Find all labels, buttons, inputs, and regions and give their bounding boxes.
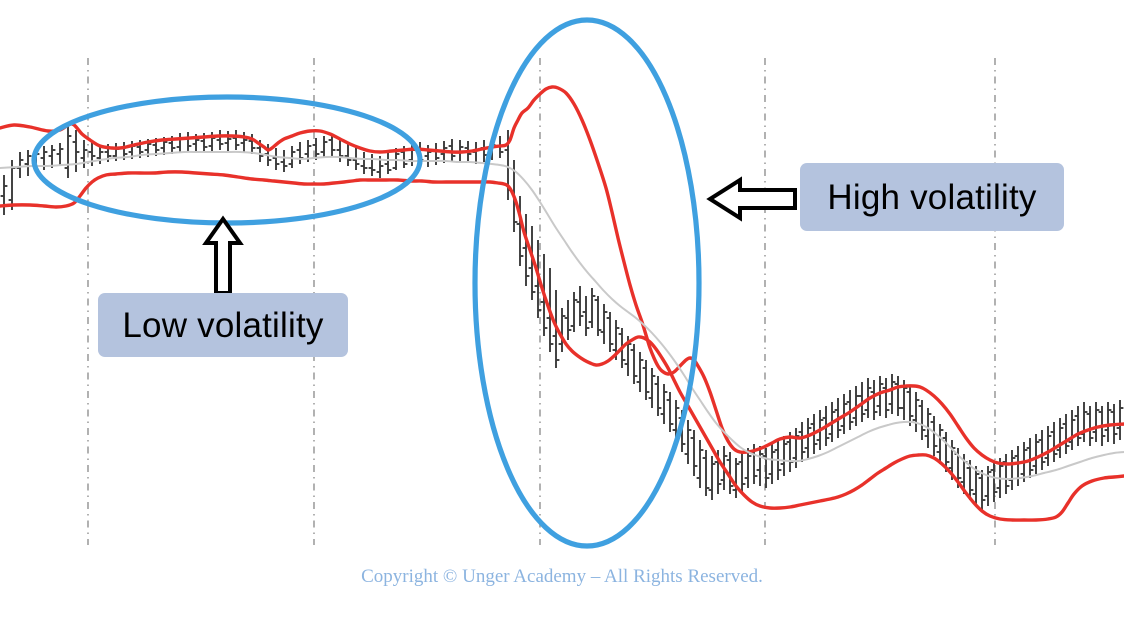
callout-high-volatility-label: High volatility: [827, 180, 1036, 215]
callout-high-volatility[interactable]: High volatility: [800, 163, 1064, 231]
callout-low-volatility[interactable]: Low volatility: [98, 293, 348, 357]
copyright-footer: Copyright © Unger Academy – All Rights R…: [0, 566, 1124, 588]
callout-low-volatility-label: Low volatility: [122, 308, 323, 343]
slide-canvas: Low volatility High volatility Copyright…: [0, 0, 1124, 627]
